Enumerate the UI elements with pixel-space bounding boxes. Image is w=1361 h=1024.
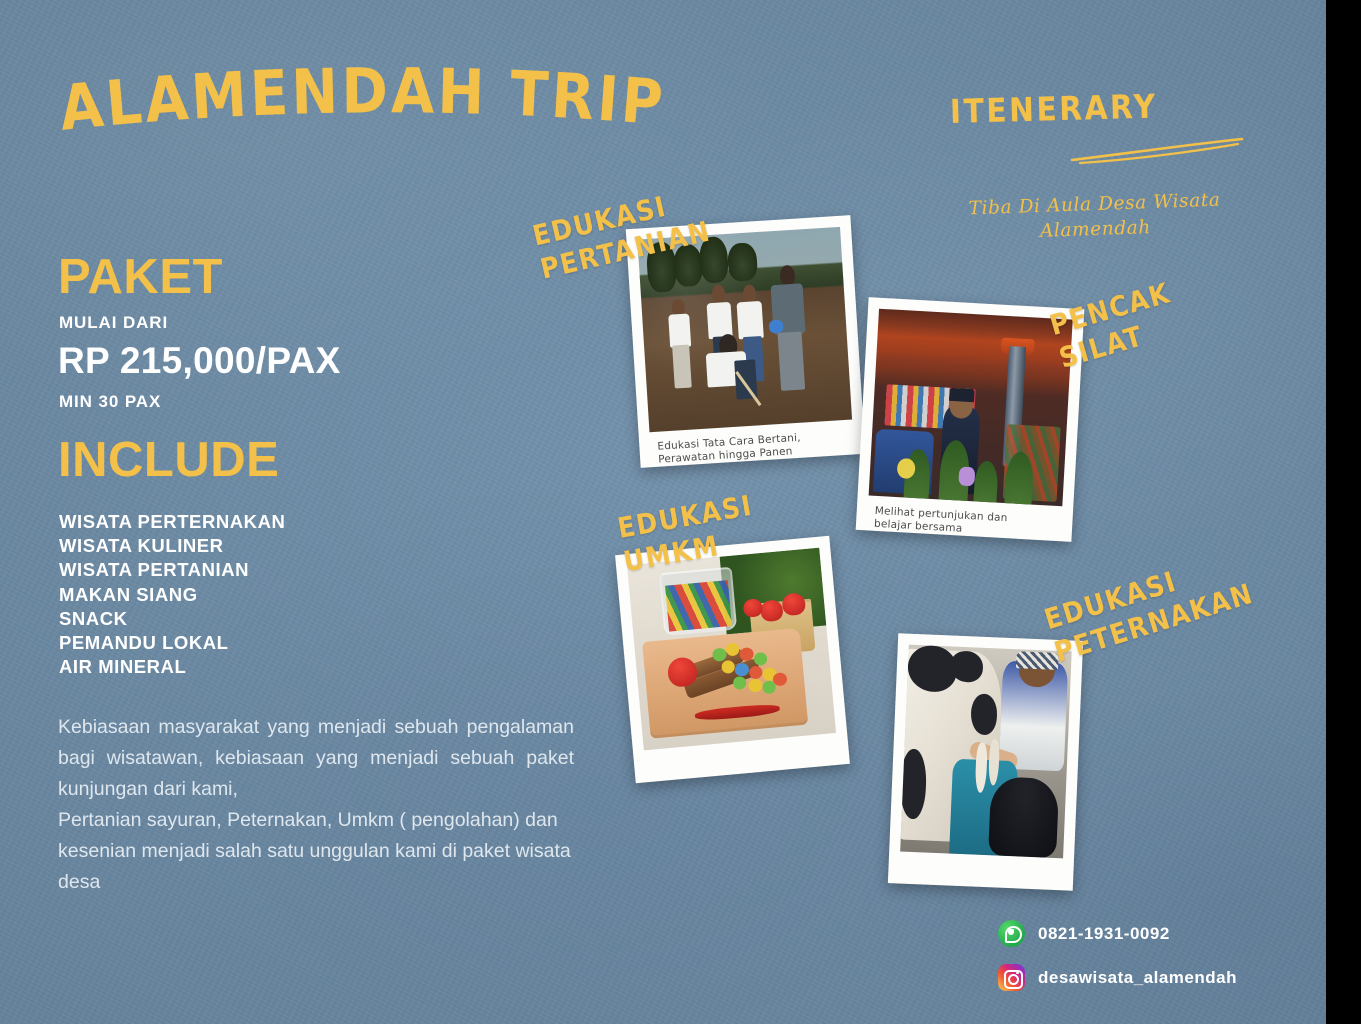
description-paragraph-1: Kebiasaan masyarakat yang menjadi sebuah… [58,712,574,805]
whatsapp-number: 0821-1931-0092 [1038,924,1170,944]
package-heading: PAKET [58,253,223,302]
package-price: RP 215,000/PAX [58,342,341,379]
photo-pencak-silat [869,309,1073,507]
svg-text:ALAMENDAH TRIP: ALAMENDAH TRIP [56,54,668,145]
package-from-label: MULAI DARI [59,313,168,333]
itinerary-subtitle: Tiba Di Aula Desa Wisata Alamendah [944,187,1246,247]
itinerary-heading-text: ITENERARY [949,87,1158,131]
list-item: WISATA KULINER [59,534,285,558]
polaroid-edukasi-peternakan [888,633,1083,891]
contact-instagram[interactable]: desawisata_alamendah [998,964,1237,991]
description-block: Kebiasaan masyarakat yang menjadi sebuah… [58,712,574,898]
polaroid-pencak-silat: Melihat pertunjukan dan belajar bersama [856,297,1085,542]
list-item: MAKAN SIANG [59,583,285,607]
contact-block: 0821-1931-0092 desawisata_alamendah [998,920,1237,1008]
list-item: AIR MINERAL [59,655,285,679]
photo-edukasi-umkm [627,548,836,751]
page-title-text: ALAMENDAH TRIP [56,54,668,145]
instagram-icon [998,964,1025,991]
photo-edukasi-peternakan [900,645,1072,859]
list-item: WISATA PERTERNAKAN [59,510,285,534]
contact-whatsapp[interactable]: 0821-1931-0092 [998,920,1237,947]
poster-canvas: ALAMENDAH TRIP PAKET MULAI DARI RP 215,0… [0,0,1326,1024]
whatsapp-icon [998,920,1025,947]
description-paragraph-2: Pertanian sayuran, Peternakan, Umkm ( pe… [58,805,574,898]
include-heading: INCLUDE [58,436,279,485]
page-title: ALAMENDAH TRIP [58,68,678,142]
list-item: SNACK [59,607,285,631]
list-item: WISATA PERTANIAN [59,558,285,582]
underline-swoosh-icon [1070,137,1245,165]
instagram-handle: desawisata_alamendah [1038,968,1237,988]
package-min-pax: MIN 30 PAX [59,392,161,412]
list-item: PEMANDU LOKAL [59,631,285,655]
right-black-bar [1326,0,1361,1024]
label-pencak-silat: PENCAK SILAT [1046,276,1184,376]
include-list: WISATA PERTERNAKAN WISATA KULINER WISATA… [59,510,285,679]
label-edukasi-peternakan: EDUKASI PETERNAKAN [1041,544,1258,669]
itinerary-heading: ITENERARY [950,92,1158,131]
